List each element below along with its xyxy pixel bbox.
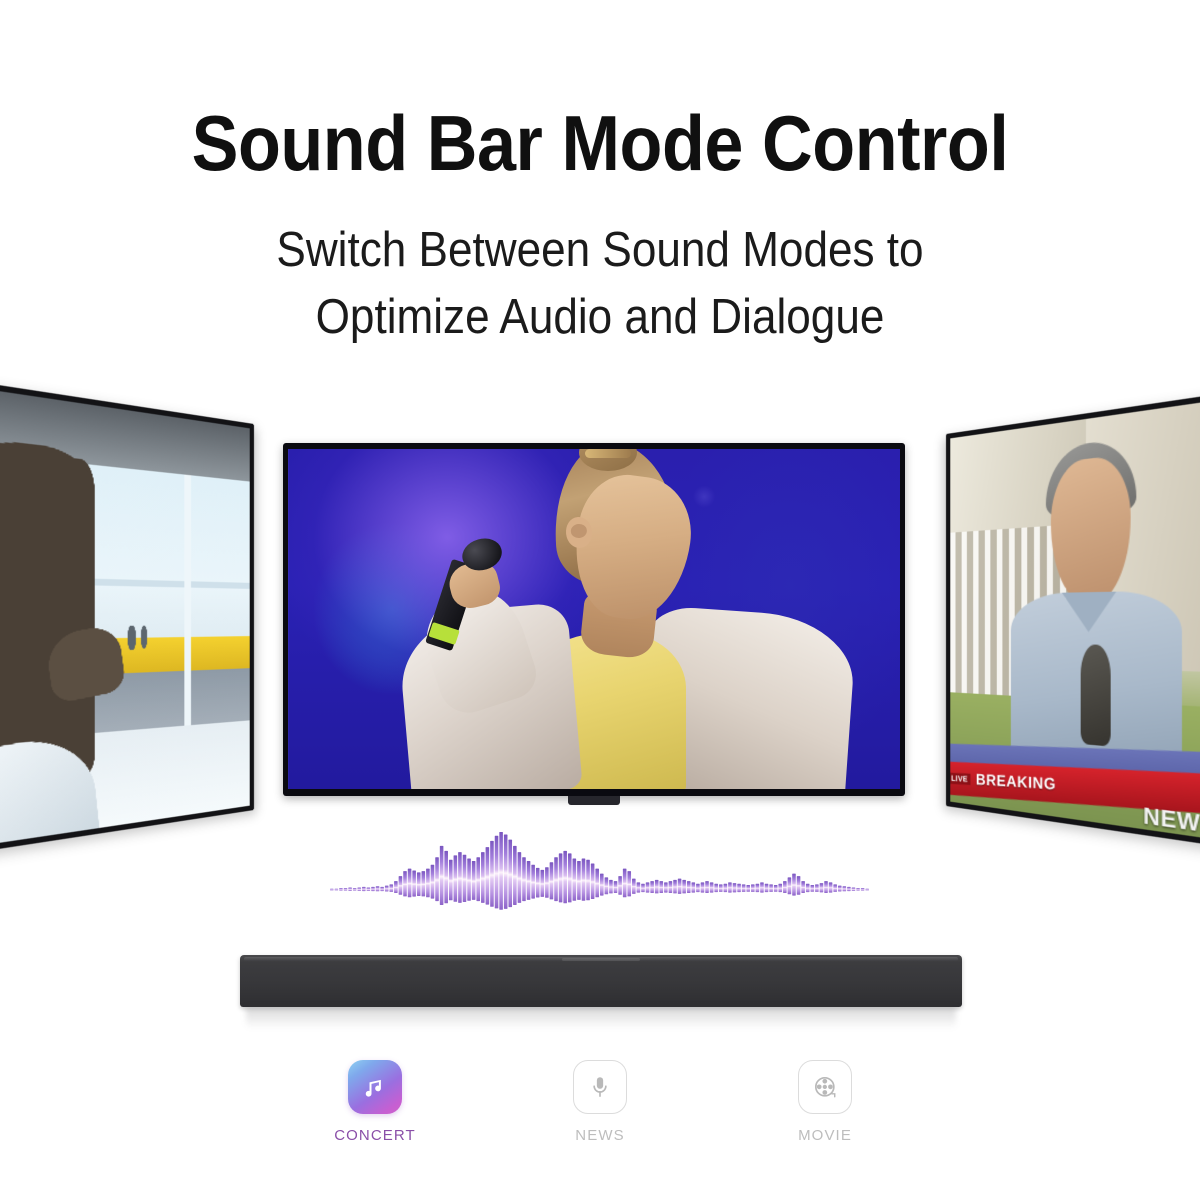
sound-bar-reflection xyxy=(246,1007,956,1029)
tv-right-panel: LIVE BREAKING NEWS xyxy=(946,393,1200,848)
news-scene: LIVE BREAKING NEWS xyxy=(950,400,1200,841)
tv-center-concert xyxy=(283,443,905,796)
mode-label-concert: CONCERT xyxy=(334,1127,416,1144)
audio-waveform-svg xyxy=(330,828,870,928)
reporter-microphone-icon xyxy=(1080,644,1110,747)
film-reel-icon[interactable] xyxy=(798,1060,852,1114)
scene-distant-figure xyxy=(141,625,147,648)
promo-banner: Sound Bar Mode Control Switch Between So… xyxy=(0,0,1200,1200)
microphone-icon[interactable] xyxy=(573,1060,627,1114)
scene-distant-figure xyxy=(128,625,136,650)
tv-left-movie xyxy=(0,381,254,853)
scene-window-mullion xyxy=(184,474,191,752)
mode-button-movie[interactable]: MOVIE xyxy=(750,1060,900,1144)
mode-label-news: NEWS xyxy=(575,1127,624,1144)
live-badge: LIVE xyxy=(950,772,970,784)
music-note-icon[interactable] xyxy=(348,1060,402,1114)
concert-singer xyxy=(288,449,900,789)
tv-left-panel xyxy=(0,381,254,853)
mode-selector: CONCERT NEWS xyxy=(300,1060,900,1170)
mode-label-movie: MOVIE xyxy=(798,1127,852,1144)
sound-bar-device xyxy=(240,955,962,1007)
news-label: NEWS xyxy=(1143,804,1200,840)
movie-scene xyxy=(0,388,250,846)
audio-waveform xyxy=(330,828,870,928)
mode-button-news[interactable]: NEWS xyxy=(525,1060,675,1144)
breaking-label: BREAKING xyxy=(976,771,1056,794)
tv-center-stand xyxy=(568,796,620,805)
sound-bar-led-strip xyxy=(562,958,640,961)
tv-right-news: LIVE BREAKING NEWS xyxy=(946,393,1200,848)
mode-button-concert[interactable]: CONCERT xyxy=(300,1060,450,1144)
tv-center-screen xyxy=(288,449,900,789)
